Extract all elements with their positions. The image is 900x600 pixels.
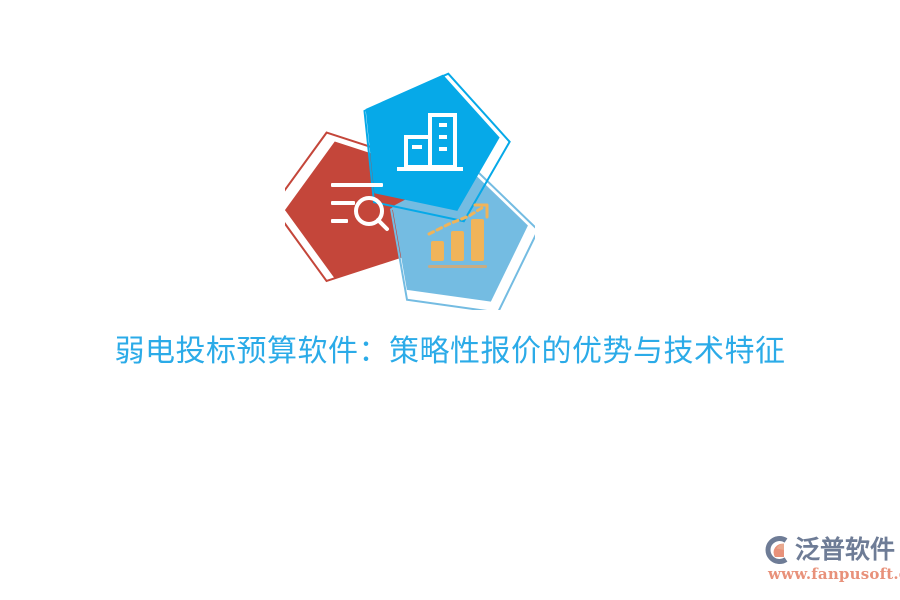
hero-illustration — [285, 70, 535, 310]
fanpu-circle-mark-icon — [762, 535, 792, 565]
brand-url: www.fanpusoft.com — [768, 565, 892, 583]
page-root: 弱电投标预算软件：策略性报价的优势与技术特征 泛普软件 www.fanpusof… — [0, 0, 900, 600]
brand-watermark: 泛普软件 www.fanpusoft.com — [762, 534, 892, 592]
page-title: 弱电投标预算软件：策略性报价的优势与技术特征 — [0, 330, 900, 374]
brand-row: 泛普软件 — [762, 534, 892, 566]
brand-name: 泛普软件 — [795, 535, 895, 565]
